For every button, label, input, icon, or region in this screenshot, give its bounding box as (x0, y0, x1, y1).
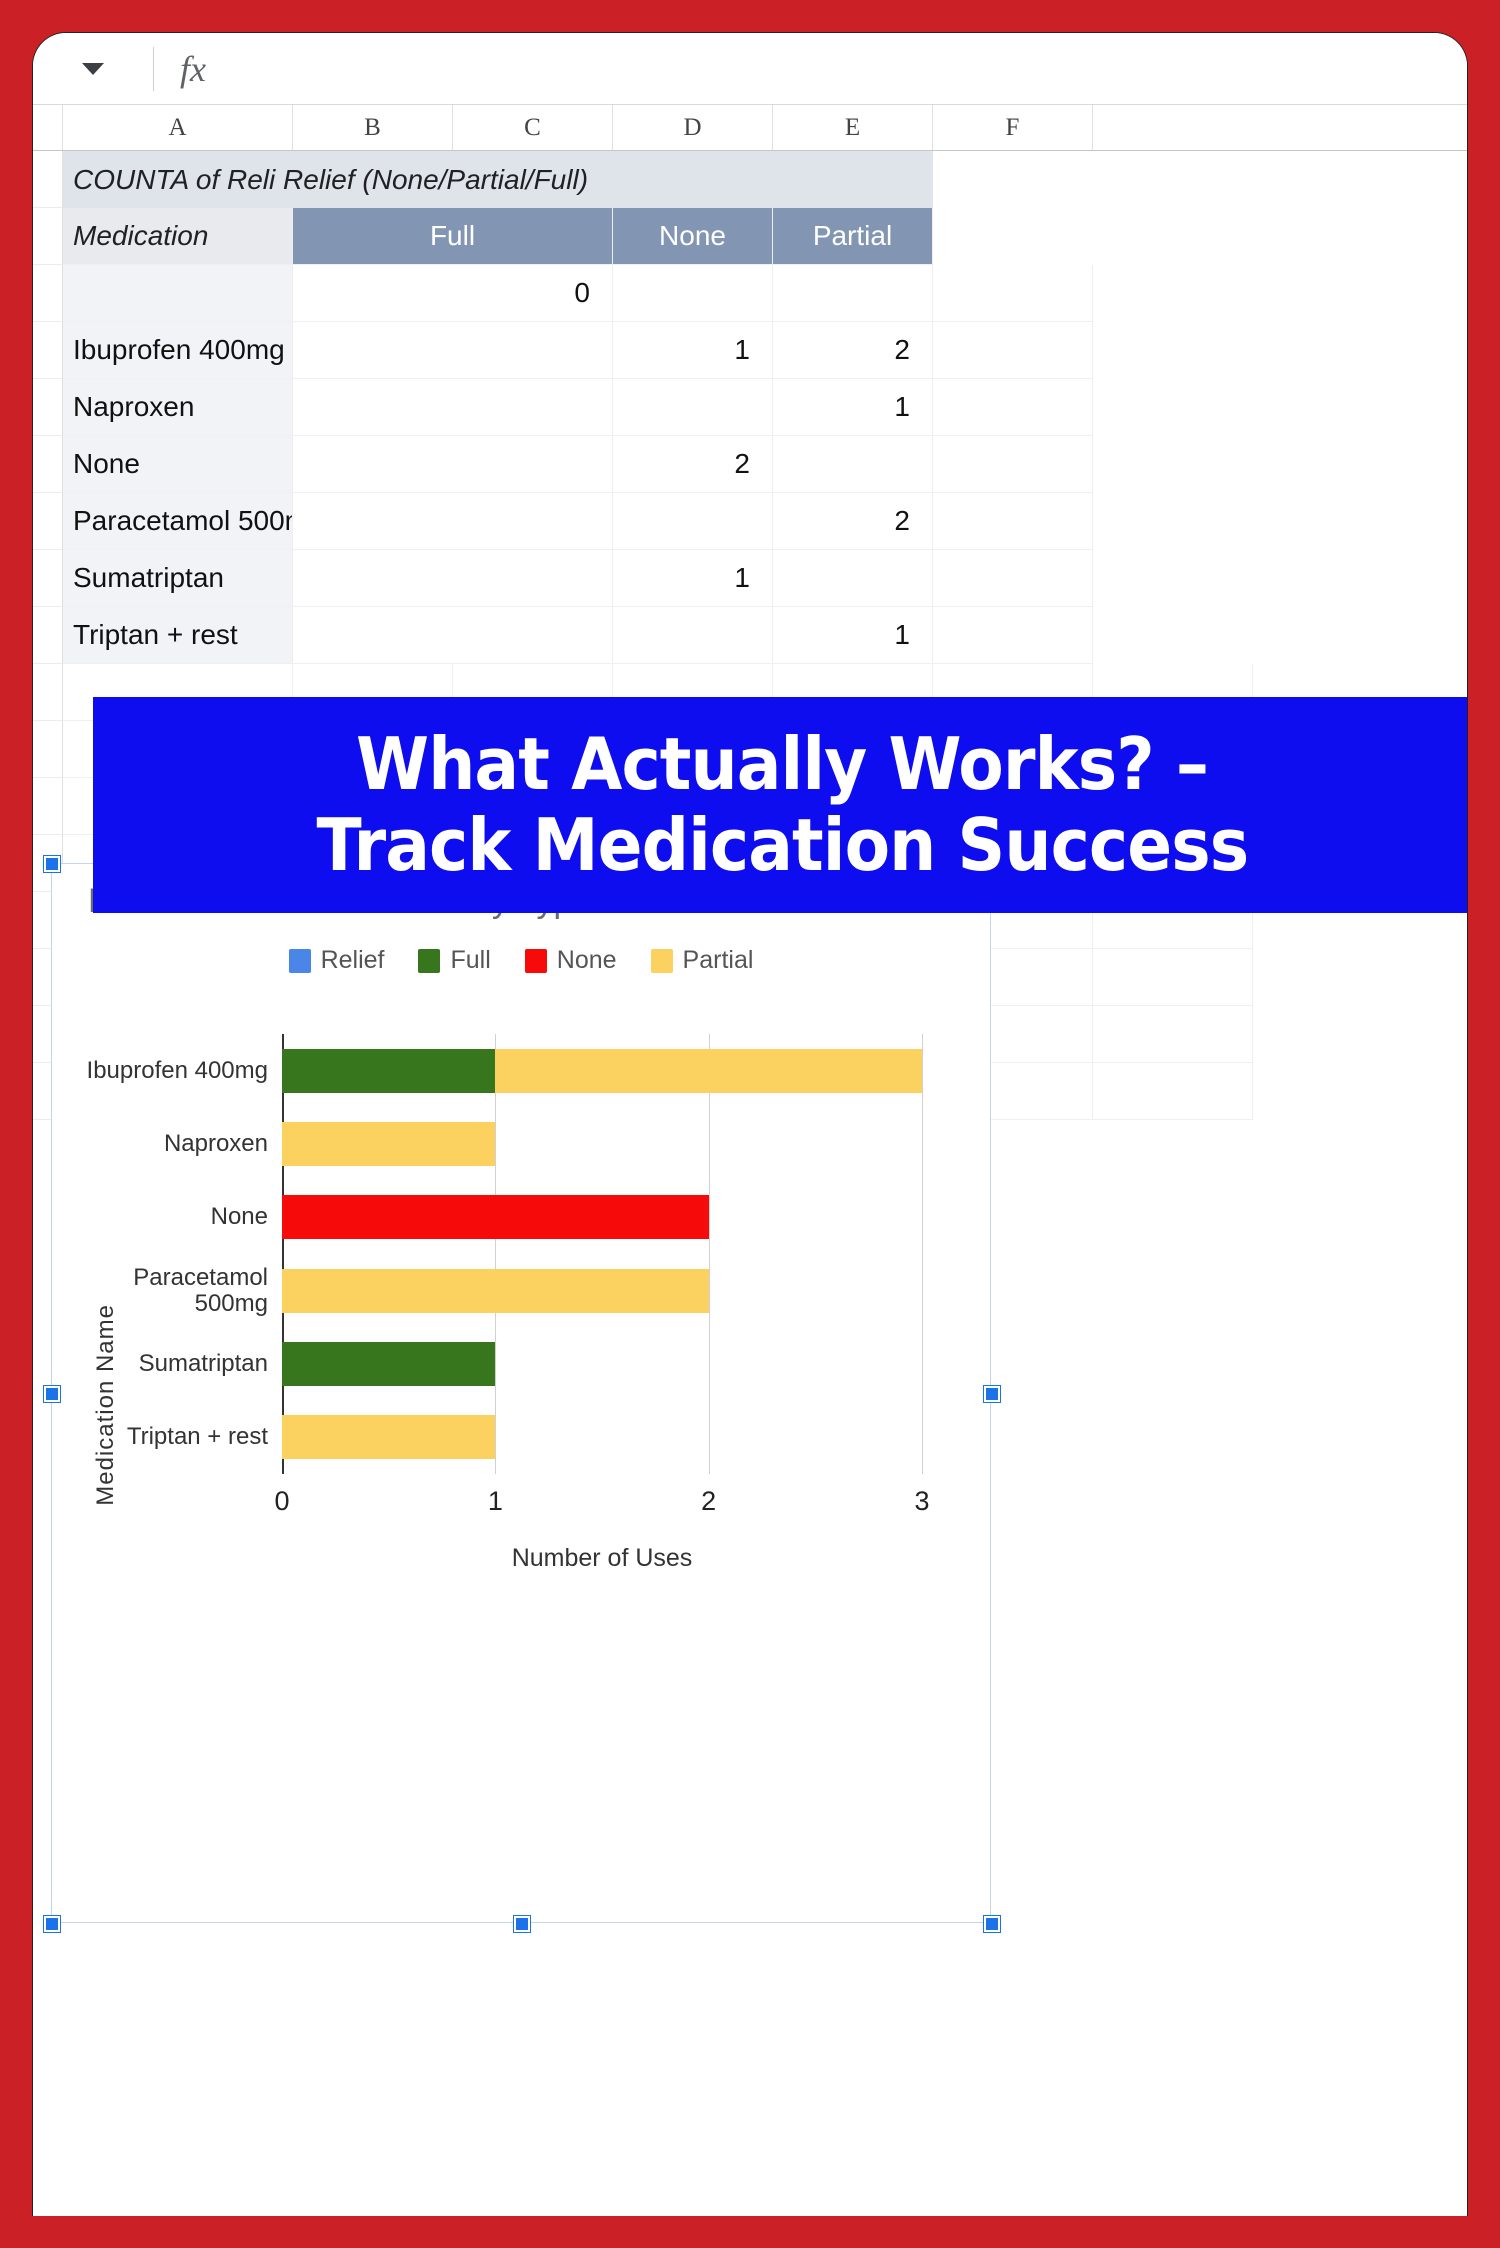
pivot-cell-partial[interactable] (773, 265, 933, 322)
legend-label: Partial (683, 946, 754, 975)
handle-mid-left[interactable] (44, 1386, 60, 1402)
y-axis-line (282, 1034, 284, 1474)
pivot-row[interactable]: None2 (33, 436, 1467, 493)
pivot-row-label[interactable]: Naproxen (63, 379, 293, 436)
bar-segment-partial[interactable] (282, 1415, 495, 1459)
empty-cell[interactable] (933, 379, 1093, 436)
bar-group[interactable]: Sumatriptan (282, 1342, 495, 1386)
chevron-down-icon (82, 63, 104, 75)
pivot-cell-full[interactable] (293, 550, 613, 607)
pivot-cell-none[interactable]: 1 (613, 322, 773, 379)
pivot-row-field-label[interactable]: Medication (63, 208, 293, 265)
bar-group[interactable]: Naproxen (282, 1122, 495, 1166)
gridline (495, 1034, 496, 1474)
promo-banner: What Actually Works? – Track Medication … (93, 697, 1468, 913)
pivot-cell-none[interactable] (613, 379, 773, 436)
pivot-cell-none[interactable] (613, 265, 773, 322)
pivot-header-row[interactable]: MedicationFullNonePartial (33, 208, 1467, 265)
pivot-row-label[interactable] (63, 265, 293, 322)
handle-bottom-mid[interactable] (514, 1916, 530, 1932)
pivot-title-cell[interactable]: COUNTA of Reli Relief (None/Partial/Full… (63, 151, 933, 208)
plot-wrapper: Medication Name Ibuprofen 400mgNaproxenN… (52, 1004, 990, 1922)
gridline (709, 1034, 710, 1474)
row-gutter[interactable] (33, 607, 63, 664)
pivot-row[interactable]: Ibuprofen 400mg12 (33, 322, 1467, 379)
x-axis-ticks: 0123 (282, 1486, 922, 1526)
bar-group[interactable]: Paracetamol 500mg (282, 1269, 709, 1313)
legend-item-partial[interactable]: Partial (651, 946, 754, 975)
pivot-row-label[interactable]: Triptan + rest (63, 607, 293, 664)
legend-label: Full (450, 946, 490, 975)
row-gutter[interactable] (33, 151, 63, 208)
legend-swatch-icon (289, 949, 311, 973)
pivot-title-row[interactable]: COUNTA of Reli Relief (None/Partial/Full… (33, 151, 1467, 208)
pivot-cell-none[interactable] (613, 607, 773, 664)
legend-item-none[interactable]: None (525, 946, 617, 975)
name-box-dropdown[interactable] (33, 33, 153, 104)
pivot-cell-partial[interactable]: 1 (773, 379, 933, 436)
empty-cell[interactable] (933, 550, 1093, 607)
formula-bar: fx (33, 33, 1467, 105)
plot-area: Ibuprofen 400mgNaproxenNoneParacetamol 5… (282, 1034, 922, 1474)
function-icon[interactable]: fx (154, 33, 232, 104)
pivot-row[interactable]: 0 (33, 265, 1467, 322)
row-gutter[interactable] (33, 721, 63, 778)
pivot-cell-none[interactable]: 1 (613, 550, 773, 607)
handle-bottom-right[interactable] (984, 1916, 1000, 1932)
legend-item-relief[interactable]: Relief (289, 946, 385, 975)
empty-cell[interactable] (1093, 1063, 1253, 1120)
pivot-row[interactable]: Triptan + rest1 (33, 607, 1467, 664)
row-gutter[interactable] (33, 493, 63, 550)
bar-group[interactable]: None (282, 1195, 709, 1239)
bar-segment-full[interactable] (282, 1342, 495, 1386)
empty-cell[interactable] (1093, 949, 1253, 1006)
row-gutter[interactable] (33, 379, 63, 436)
bar-segment-none[interactable] (282, 1195, 709, 1239)
pivot-row[interactable]: Paracetamol 500mg2 (33, 493, 1467, 550)
row-gutter[interactable] (33, 664, 63, 721)
row-gutter[interactable] (33, 550, 63, 607)
pivot-cell-full[interactable] (293, 322, 613, 379)
handle-mid-right[interactable] (984, 1386, 1000, 1402)
bar-category-label: Triptan + rest (68, 1415, 268, 1459)
pivot-cell-partial[interactable] (773, 550, 933, 607)
pivot-row-label[interactable]: Ibuprofen 400mg (63, 322, 293, 379)
pivot-column-header-full[interactable]: Full (293, 208, 613, 265)
bar-group[interactable]: Ibuprofen 400mg (282, 1049, 922, 1093)
column-header-d[interactable]: D (613, 105, 773, 150)
row-gutter[interactable] (33, 208, 63, 265)
bar-segment-partial[interactable] (282, 1122, 495, 1166)
handle-bottom-left[interactable] (44, 1916, 60, 1932)
pivot-cell-none[interactable] (613, 493, 773, 550)
row-gutter[interactable] (33, 778, 63, 835)
pivot-cell-none[interactable]: 2 (613, 436, 773, 493)
pivot-row-label[interactable]: Sumatriptan (63, 550, 293, 607)
handle-top-left[interactable] (44, 856, 60, 872)
pivot-cell-full[interactable] (293, 607, 613, 664)
column-header-a[interactable]: A (63, 105, 293, 150)
empty-cell[interactable] (933, 493, 1093, 550)
chart-object[interactable]: Medication Effectiveness by Type ReliefF… (51, 863, 991, 1923)
x-axis-title: Number of Uses (282, 1544, 922, 1573)
pivot-row-label[interactable]: Paracetamol 500mg (63, 493, 293, 550)
empty-cell[interactable] (1093, 1006, 1253, 1063)
pivot-cell-partial[interactable]: 2 (773, 493, 933, 550)
banner-line-1: What Actually Works? – (356, 724, 1208, 805)
pivot-column-header-partial[interactable]: Partial (773, 208, 933, 265)
y-axis-title: Medication Name (92, 1304, 120, 1506)
pivot-cell-full[interactable]: 0 (293, 265, 613, 322)
legend-item-full[interactable]: Full (418, 946, 490, 975)
column-header-f[interactable]: F (933, 105, 1093, 150)
x-tick-label: 2 (701, 1486, 716, 1517)
x-tick-label: 1 (488, 1486, 503, 1517)
empty-cell[interactable] (933, 322, 1093, 379)
gridline (922, 1034, 923, 1474)
pivot-cell-full[interactable] (293, 436, 613, 493)
pivot-cell-partial[interactable]: 2 (773, 322, 933, 379)
empty-cell[interactable] (933, 265, 1093, 322)
pivot-cell-full[interactable] (293, 379, 613, 436)
formula-input[interactable] (232, 33, 1467, 104)
chart-legend: ReliefFullNonePartial (52, 946, 990, 975)
column-header-b[interactable]: B (293, 105, 453, 150)
bar-category-label: Paracetamol 500mg (68, 1265, 268, 1318)
empty-cell[interactable] (933, 607, 1093, 664)
bar-group[interactable]: Triptan + rest (282, 1415, 495, 1459)
bar-segment-partial[interactable] (282, 1269, 709, 1313)
pivot-row[interactable]: Naproxen1 (33, 379, 1467, 436)
legend-swatch-icon (651, 949, 673, 973)
bar-category-label: Ibuprofen 400mg (68, 1049, 268, 1093)
legend-swatch-icon (418, 949, 440, 973)
legend-label: None (557, 946, 617, 975)
row-gutter[interactable] (33, 436, 63, 493)
x-tick-label: 3 (914, 1486, 929, 1517)
empty-cell[interactable] (933, 436, 1093, 493)
pivot-cell-full[interactable] (293, 493, 613, 550)
column-header-row: ABCDEF (33, 105, 1467, 151)
banner-line-2: Track Medication Success (316, 805, 1248, 886)
spreadsheet-window: fx ABCDEF COUNTA of Reli Relief (None/Pa… (32, 32, 1468, 2216)
bar-segment-full[interactable] (282, 1049, 495, 1093)
pivot-column-header-none[interactable]: None (613, 208, 773, 265)
legend-label: Relief (321, 946, 385, 975)
pivot-cell-partial[interactable] (773, 436, 933, 493)
select-all-corner[interactable] (33, 105, 63, 150)
bar-category-label: Naproxen (68, 1122, 268, 1166)
x-tick-label: 0 (274, 1486, 289, 1517)
pivot-row-label[interactable]: None (63, 436, 293, 493)
legend-swatch-icon (525, 949, 547, 973)
bar-category-label: None (68, 1195, 268, 1239)
bar-category-label: Sumatriptan (68, 1342, 268, 1386)
row-gutter[interactable] (33, 265, 63, 322)
pivot-cell-partial[interactable]: 1 (773, 607, 933, 664)
row-gutter[interactable] (33, 322, 63, 379)
bar-segment-partial[interactable] (495, 1049, 922, 1093)
column-header-c[interactable]: C (453, 105, 613, 150)
pivot-row[interactable]: Sumatriptan1 (33, 550, 1467, 607)
column-header-e[interactable]: E (773, 105, 933, 150)
